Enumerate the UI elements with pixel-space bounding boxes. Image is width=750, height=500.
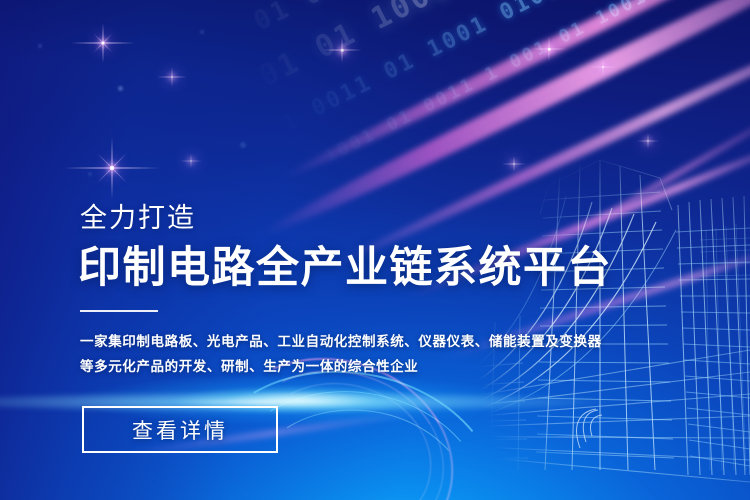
banner-content: 全力打造 印制电路全产业链系统平台 一家集印制电路板、光电产品、工业自动化控制系…	[0, 0, 750, 500]
banner-subtitle-line-1: 一家集印制电路板、光电产品、工业自动化控制系统、仪器仪表、储能装置及变换器	[80, 330, 602, 350]
banner-subtitle-line-2: 等多元化产品的开发、研制、生产为一体的综合性企业	[80, 355, 418, 375]
banner-eyebrow: 全力打造	[80, 196, 196, 235]
view-details-button-label: 查看详情	[132, 415, 228, 445]
view-details-button[interactable]: 查看详情	[82, 406, 278, 453]
title-divider	[80, 310, 158, 312]
page-title: 印制电路全产业链系统平台	[78, 233, 612, 295]
hero-banner: 1001 01 1001 101 0011 01 1 0011 0101 100…	[0, 0, 750, 500]
